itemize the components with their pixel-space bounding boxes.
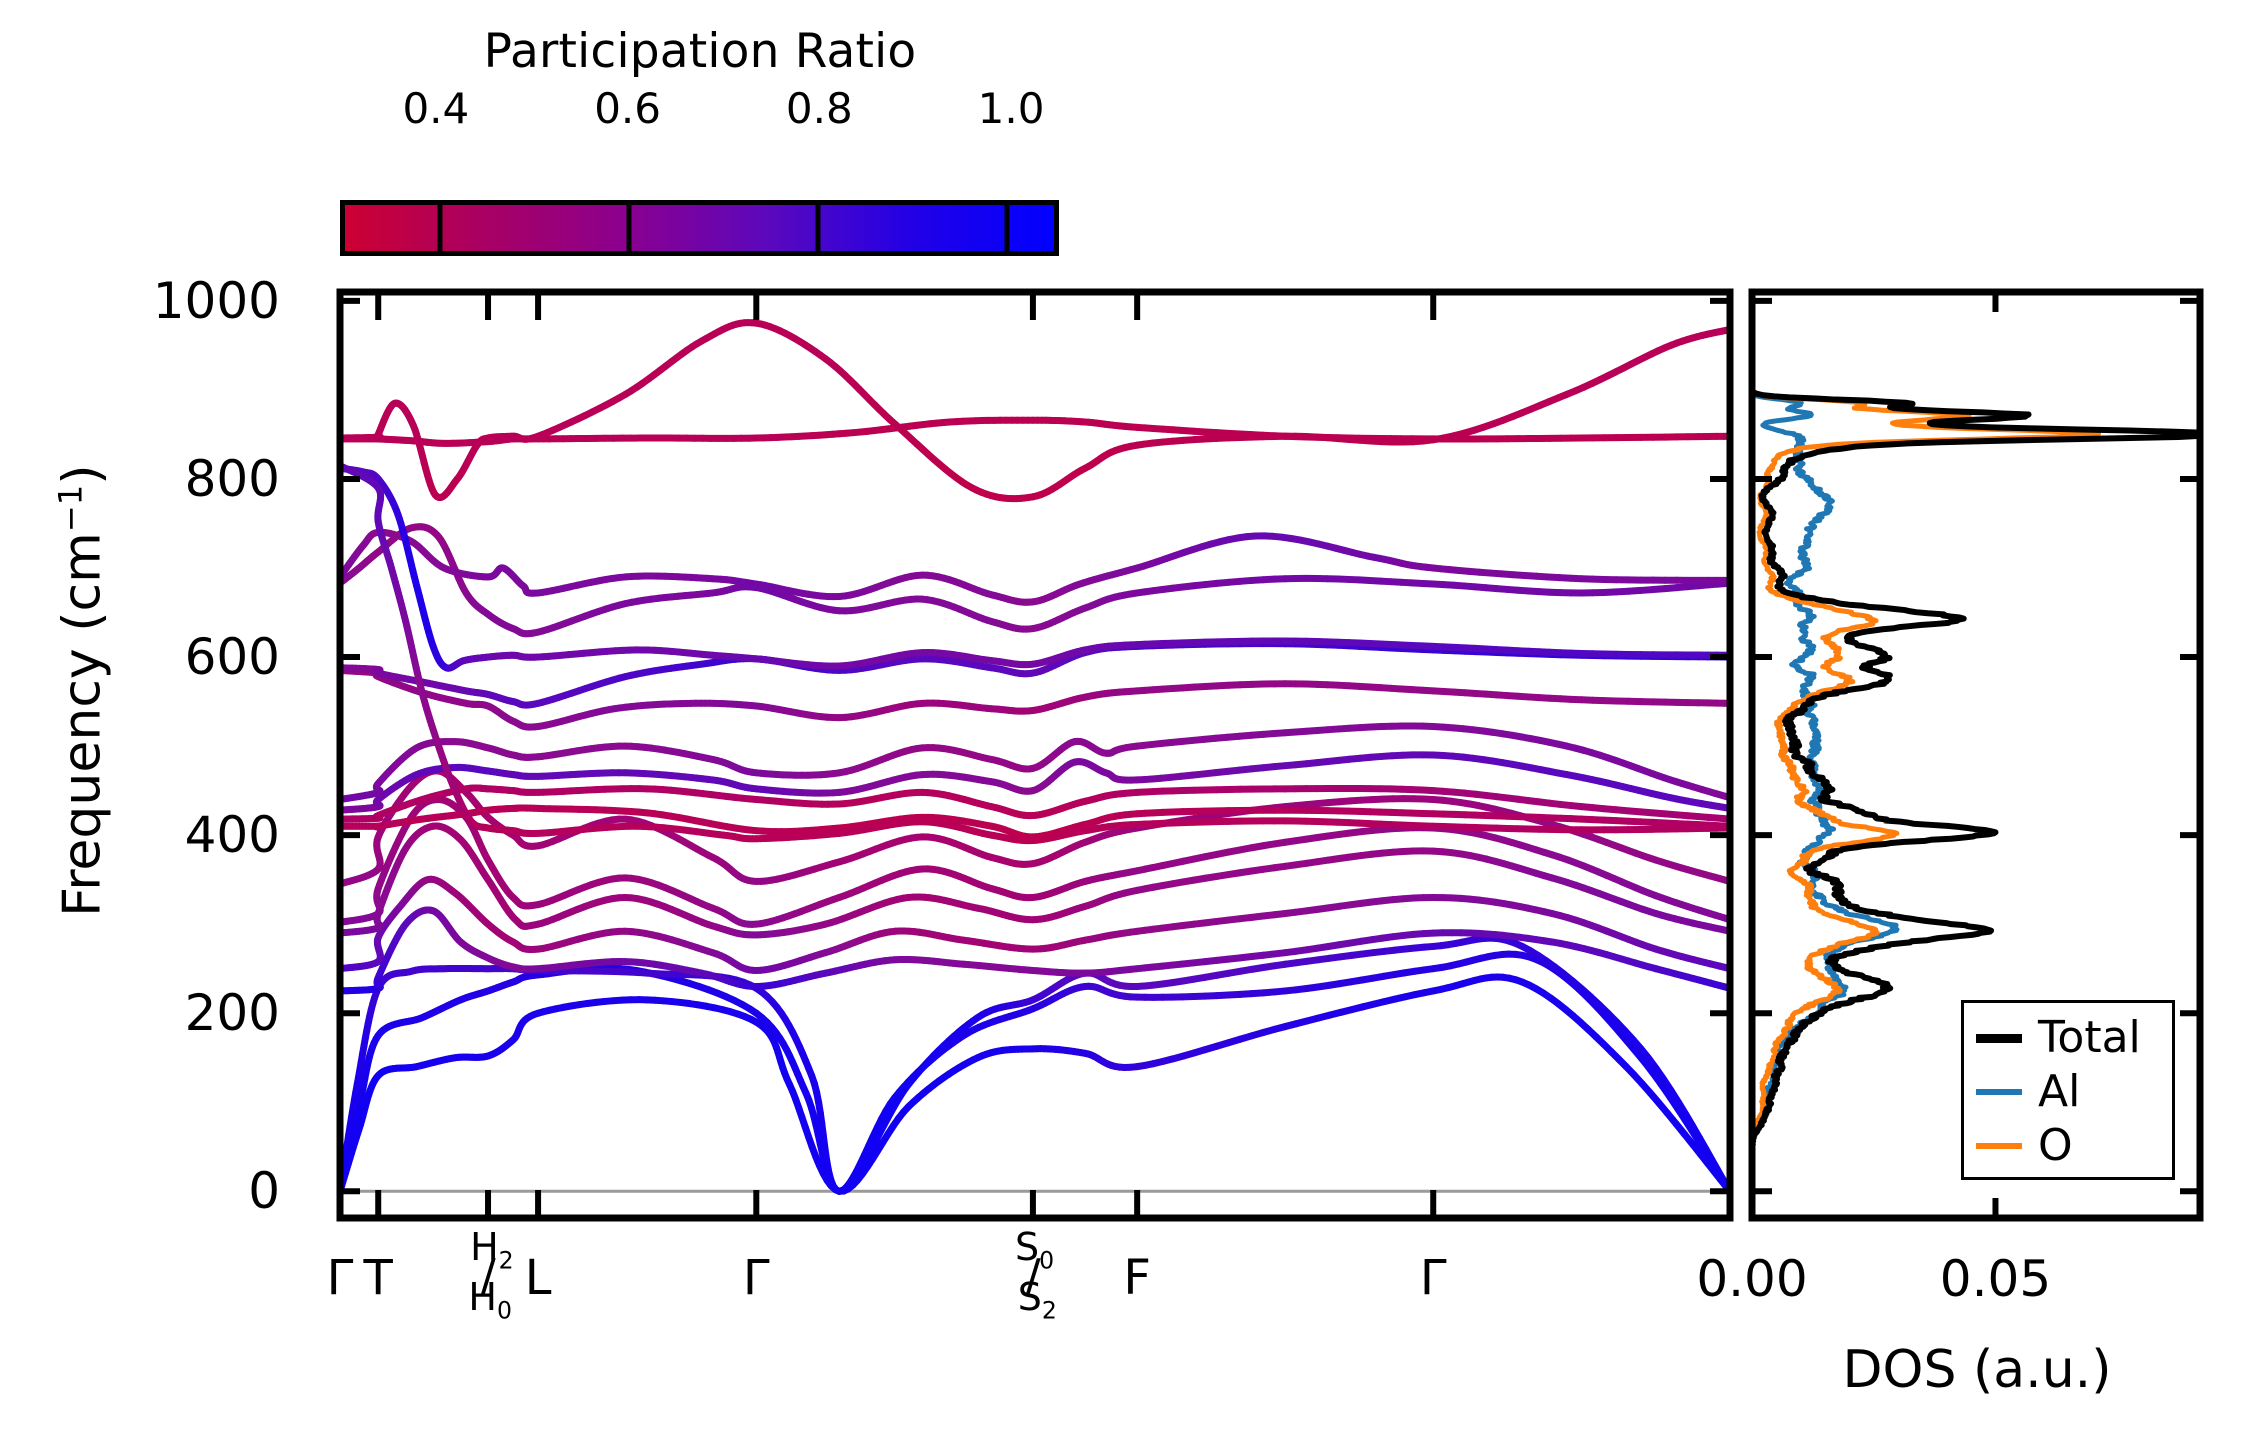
figure-canvas: Participation Ratio 0.40.60.81.0 Frequen… <box>0 0 2259 1455</box>
